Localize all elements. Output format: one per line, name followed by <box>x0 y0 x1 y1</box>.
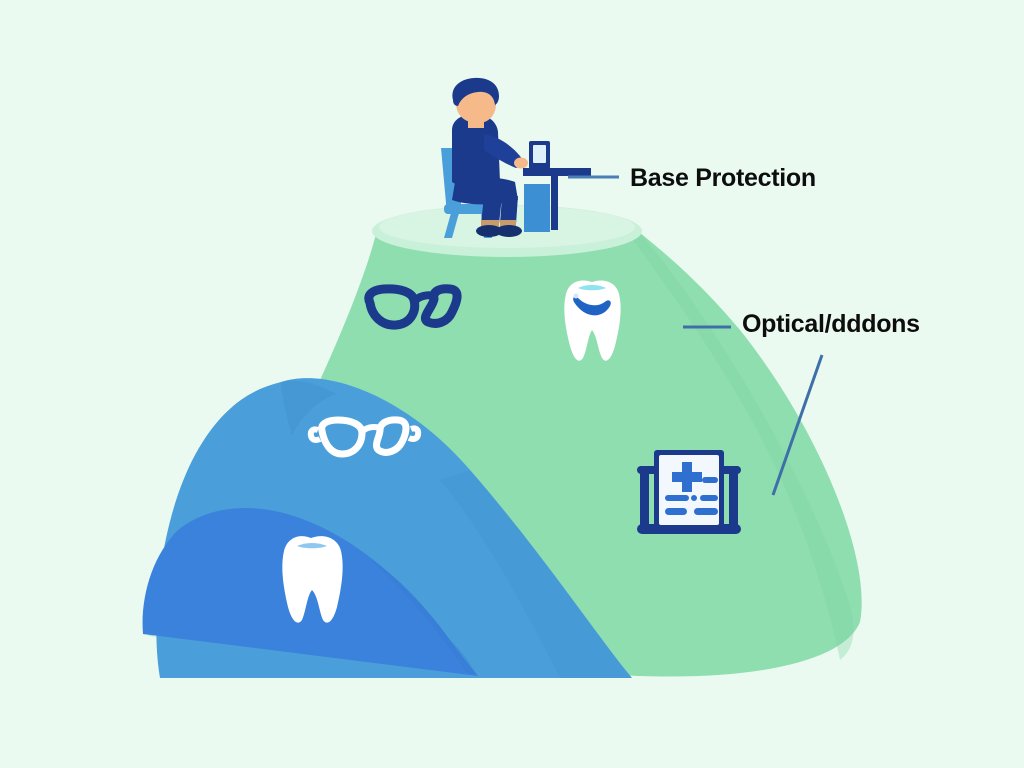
monitor-screen <box>533 145 546 163</box>
label-base-protection: Base Protection <box>630 164 816 193</box>
tooth-sparkle <box>574 294 579 299</box>
shoe-right <box>496 225 522 237</box>
label-optical-addons: Optical/dddons <box>742 310 920 339</box>
card-line-4 <box>665 508 687 515</box>
person-hand <box>514 158 528 169</box>
card-line-5 <box>694 508 718 515</box>
person-neck <box>468 118 484 128</box>
card-line-2 <box>665 495 689 501</box>
diagram-canvas: Base Protection Optical/dddons <box>0 0 1024 768</box>
lower-leg-right <box>500 196 518 224</box>
card-line-1 <box>702 477 718 483</box>
person-at-desk <box>441 78 528 238</box>
desk-leg <box>551 176 558 230</box>
lower-leg-left <box>481 196 502 224</box>
card-post-left <box>640 466 649 528</box>
card-post-right <box>729 466 738 528</box>
desk-top <box>523 168 591 176</box>
desk-cabinet <box>524 184 550 232</box>
card-line-3 <box>700 495 718 501</box>
card-dot <box>691 495 697 501</box>
layered-mound-illustration <box>0 0 1024 768</box>
